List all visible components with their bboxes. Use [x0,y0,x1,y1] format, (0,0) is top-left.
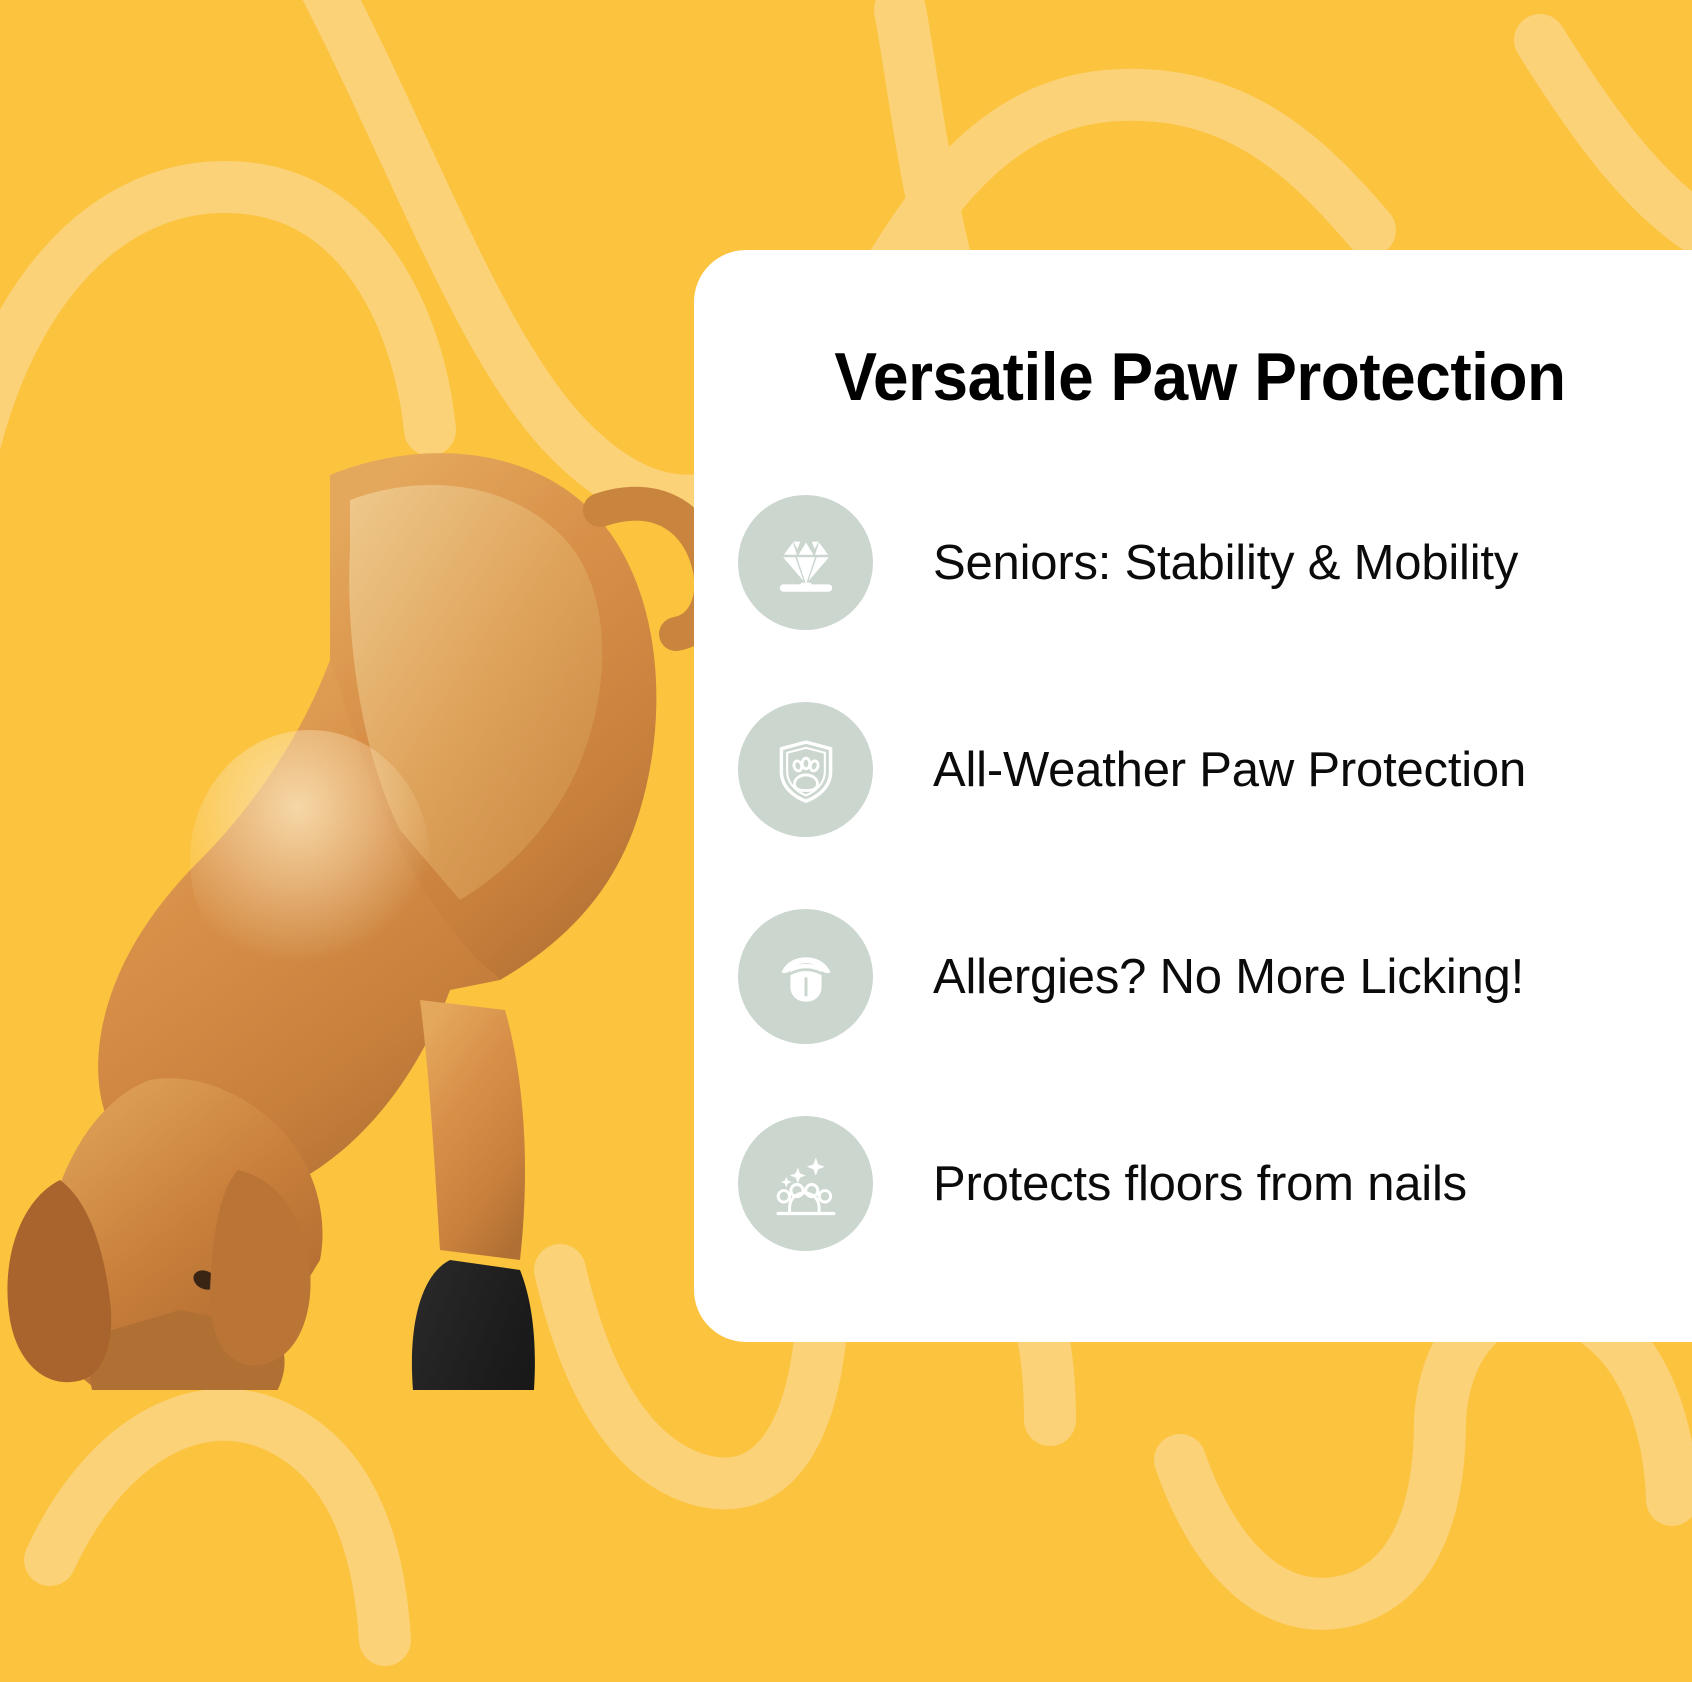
shield-paw-icon [738,702,873,837]
page-title: Versatile Paw Protection [777,338,1623,416]
feature-row-allergies: Allergies? No More Licking! [738,909,1692,1044]
feature-label: Seniors: Stability & Mobility [933,534,1692,592]
feature-list: Seniors: Stability & Mobility [738,495,1692,1251]
feature-label: Allergies? No More Licking! [933,948,1692,1006]
sparkling-paw-floor-icon [738,1116,873,1251]
feature-row-seniors: Seniors: Stability & Mobility [738,495,1692,630]
product-feature-graphic: Versatile Paw Protection [0,0,1692,1682]
feature-label: All-Weather Paw Protection [933,741,1692,799]
feature-row-floors: Protects floors from nails [738,1116,1692,1251]
feature-card: Versatile Paw Protection [694,250,1692,1342]
diamond-on-stand-icon [738,495,873,630]
feature-row-all-weather: All-Weather Paw Protection [738,702,1692,837]
feature-label: Protects floors from nails [933,1155,1692,1213]
dog-photo-image [0,380,760,1390]
dog-tongue-icon [738,909,873,1044]
